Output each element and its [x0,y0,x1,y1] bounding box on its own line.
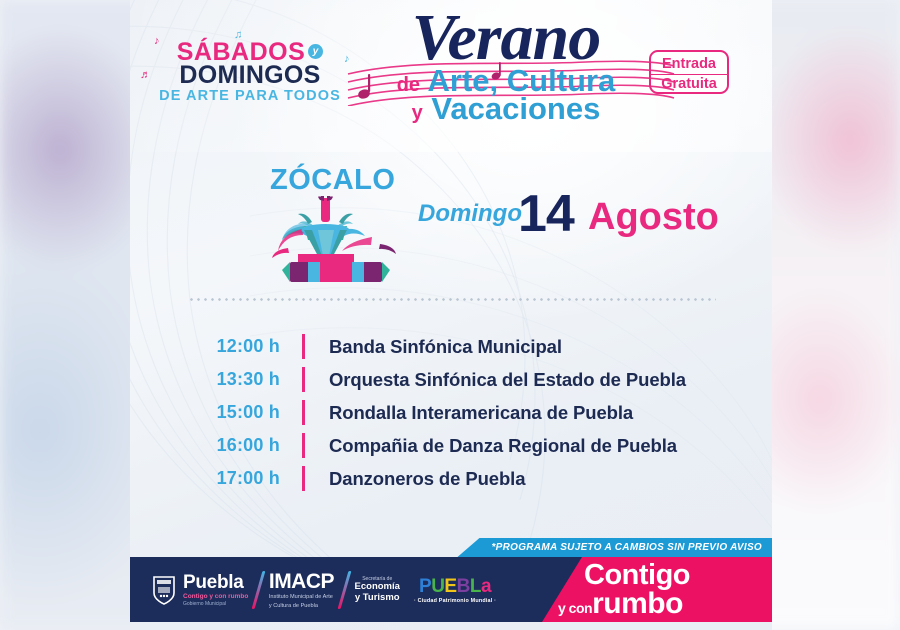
schedule-event: Rondalla Interamericana de Puebla [329,402,633,424]
music-note-icon: ♪ [154,36,160,47]
imacp-sub-line2: y Cultura de Puebla [269,603,334,610]
title-main: Verano [326,8,686,69]
schedule-time: 13:30 h [188,369,280,390]
puebla-name: Puebla [183,573,248,592]
schedule-event: Danzoneros de Puebla [329,468,525,490]
music-note-icon: ♫ [234,30,242,41]
dotted-divider [188,298,716,301]
schedule-time: 16:00 h [188,435,280,456]
divider-slash [252,571,265,609]
secretaria-logo: Secretaría de Economía y Turismo [355,576,400,603]
row-separator [302,334,305,359]
venue-name: ZÓCALO [270,164,395,197]
schedule-row: 17:00 h Danzoneros de Puebla [188,462,748,495]
slogan-line2: y conrumbo [558,590,758,619]
ciudad-sub: · Ciudad Patrimonio Mundial · [414,598,496,604]
row-separator [302,466,305,491]
divider-slash [338,571,351,609]
schedule-event: Orquesta Sinfónica del Estado de Puebla [329,369,686,391]
music-note-icon: ♬ [140,70,151,81]
day-number: 14 [518,184,574,244]
schedule-time: 12:00 h [188,336,280,357]
row-separator [302,367,305,392]
disclaimer-banner: *PROGRAMA SUJETO A CAMBIOS SIN PREVIO AV… [457,538,772,557]
puebla-tagline: Contigo y con rumbo [183,593,248,600]
puebla-sub: Gobierno Municipal [183,601,248,607]
coat-of-arms-icon [152,575,176,605]
slogan-rumbo: rumbo [592,587,683,620]
secretaria-line2: y Turismo [355,593,400,604]
series-conjunction-badge: y [308,44,323,59]
series-lockup: SÁBADOSy DOMINGOS DE ARTE PARA TODOS ♪ ♫… [148,40,352,104]
poster-footer: *PROGRAMA SUJETO A CAMBIOS SIN PREVIO AV… [130,538,772,622]
schedule-row: 16:00 h Compañia de Danza Regional de Pu… [188,429,748,462]
schedule-row: 15:00 h Rondalla Interamericana de Puebl… [188,396,748,429]
weekday-label: Domingo [418,200,522,228]
schedule-time: 15:00 h [188,402,280,423]
schedule-event: Banda Sinfónica Municipal [329,336,562,358]
title-lockup: Verano de Arte, Cultura y Vacaciones [326,8,686,144]
poster-header: SÁBADOSy DOMINGOS DE ARTE PARA TODOS ♪ ♫… [130,0,772,152]
puebla-wordmark: Puebla Contigo y con rumbo Gobierno Muni… [183,573,248,607]
fountain-illustration-icon [268,196,404,292]
imacp-logo: IMACP Instituto Municipal de Arte y Cult… [269,571,334,610]
imacp-sub-line1: Instituto Municipal de Arte [269,594,334,601]
schedule-list: 12:00 h Banda Sinfónica Municipal 13:30 … [188,330,748,495]
series-line2: DOMINGOS [148,63,352,88]
imacp-name: IMACP [269,571,334,592]
ciudad-patrimonio-logo: PUEBLa · Ciudad Patrimonio Mundial · [414,577,496,604]
row-separator [302,433,305,458]
schedule-row: 13:30 h Orquesta Sinfónica del Estado de… [188,363,748,396]
month-name: Agosto [588,196,719,239]
ciudad-name: PUEBLa [414,577,496,596]
poster-screenshot: SÁBADOSy DOMINGOS DE ARTE PARA TODOS ♪ ♫… [0,0,900,630]
footer-logos: Puebla Contigo y con rumbo Gobierno Muni… [152,562,496,618]
schedule-row: 12:00 h Banda Sinfónica Municipal [188,330,748,363]
poster-canvas: SÁBADOSy DOMINGOS DE ARTE PARA TODOS ♪ ♫… [130,0,772,630]
row-separator [302,400,305,425]
title-vacaciones: Vacaciones [431,91,600,126]
slogan-lockup: Contigo y conrumbo [558,562,758,618]
series-tagline: DE ARTE PARA TODOS [148,89,352,104]
slogan-y: y con [558,600,592,616]
title-y: y [412,102,423,124]
schedule-event: Compañia de Danza Regional de Puebla [329,435,677,457]
schedule-time: 17:00 h [188,468,280,489]
title-line3: y Vacaciones [326,93,686,126]
slogan-line1: Contigo [584,562,758,590]
